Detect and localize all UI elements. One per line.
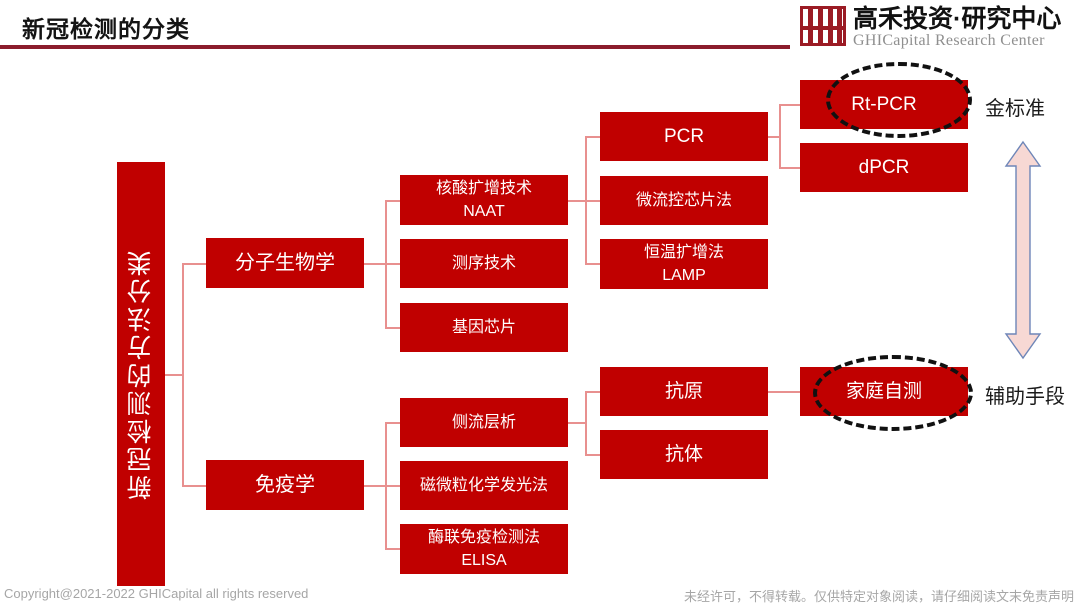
connector-to-dpcr [779, 167, 800, 169]
page-title: 新冠检测的分类 [22, 10, 190, 44]
connector-pcr-spine [779, 104, 781, 168]
footer-copyright: Copyright@2021-2022 GHICapital all right… [4, 586, 308, 601]
node-elisa[interactable]: 酶联免疫检测法 ELISA [400, 524, 568, 574]
connector-molecular-stub [364, 263, 386, 265]
node-label-line2: LAMP [662, 264, 706, 287]
connector-to-immunology [182, 485, 206, 487]
node-sequencing[interactable]: 测序技术 [400, 239, 568, 288]
title-underline-rule [0, 45, 790, 49]
node-label-line1: 酶联免疫检测法 [428, 526, 540, 549]
annotation-gold-standard: 金标准 [985, 92, 1045, 121]
node-label-line1: 基因芯片 [452, 316, 516, 339]
root-node[interactable]: 新冠检测的方法分类 [117, 162, 165, 586]
connector-lateralflow-spine [585, 391, 587, 455]
connector-to-elisa [385, 548, 400, 550]
node-lateral-flow[interactable]: 侧流层析 [400, 398, 568, 447]
annotation-auxiliary-means: 辅助手段 [985, 380, 1065, 409]
node-label-line1: 侧流层析 [452, 411, 516, 434]
footer-disclaimer: 未经许可，不得转载。仅供特定对象阅读，请仔细阅读文末免责声明 [684, 586, 1074, 605]
connector-to-naat [385, 200, 400, 202]
root-node-label: 新冠检测的方法分类 [123, 248, 159, 500]
node-label-line2: NAAT [463, 200, 504, 223]
connector-to-microfluidic [585, 200, 600, 202]
node-naat[interactable]: 核酸扩增技术 NAAT [400, 175, 568, 225]
node-label: 免疫学 [255, 471, 315, 500]
node-magnetic-clia[interactable]: 磁微粒化学发光法 [400, 461, 568, 510]
ghic-logo-mark-icon [800, 6, 846, 46]
node-label-line1: 测序技术 [452, 252, 516, 275]
node-gene-chip[interactable]: 基因芯片 [400, 303, 568, 352]
connector-to-clia [385, 485, 400, 487]
connector-immunology-stub [364, 485, 386, 487]
node-microfluidic-chip[interactable]: 微流控芯片法 [600, 176, 768, 225]
node-pcr[interactable]: PCR [600, 112, 768, 161]
connector-to-lateral-flow [385, 422, 400, 424]
connector-antigen-to-hometest [768, 391, 800, 393]
connector-to-molecular [182, 263, 206, 265]
node-antibody[interactable]: 抗体 [600, 430, 768, 479]
double-headed-vertical-arrow-icon [1003, 140, 1043, 360]
node-label-line1: Rt-PCR [851, 91, 916, 119]
connector-to-antibody [585, 454, 600, 456]
node-rt-pcr[interactable]: Rt-PCR [800, 80, 968, 129]
node-label-line1: 家庭自测 [846, 378, 922, 406]
node-label-line1: dPCR [859, 154, 910, 182]
node-label-line1: 磁微粒化学发光法 [420, 474, 548, 497]
node-immunology[interactable]: 免疫学 [206, 460, 364, 510]
node-label: 分子生物学 [235, 249, 335, 278]
connector-lateralflow-stub [568, 422, 586, 424]
node-lamp[interactable]: 恒温扩增法 LAMP [600, 239, 768, 289]
connector-to-antigen [585, 391, 600, 393]
connector-to-rtpcr [779, 104, 800, 106]
node-home-self-test[interactable]: 家庭自测 [800, 367, 968, 416]
logo-english-name: GHICapital Research Center [853, 32, 1061, 50]
node-label-line1: 恒温扩增法 [644, 241, 724, 264]
logo-chinese-name: 高禾投资·研究中心 [853, 6, 1061, 32]
ghic-logo: 高禾投资·研究中心 GHICapital Research Center [800, 6, 1061, 50]
node-label-line1: PCR [664, 123, 704, 151]
node-label-line1: 抗原 [665, 378, 703, 406]
connector-root-stub [165, 374, 183, 376]
connector-to-sequencing [385, 263, 400, 265]
node-label-line1: 核酸扩增技术 [436, 177, 532, 200]
connector-to-genechip [385, 327, 400, 329]
node-label-line1: 微流控芯片法 [636, 189, 732, 212]
node-dpcr[interactable]: dPCR [800, 143, 968, 192]
node-antigen[interactable]: 抗原 [600, 367, 768, 416]
node-molecular-biology[interactable]: 分子生物学 [206, 238, 364, 288]
connector-to-lamp [585, 263, 600, 265]
connector-to-pcr [585, 136, 600, 138]
node-label-line2: ELISA [461, 549, 506, 572]
connector-root-spine [182, 263, 184, 486]
connector-naat-stub [568, 200, 586, 202]
node-label-line1: 抗体 [665, 441, 703, 469]
